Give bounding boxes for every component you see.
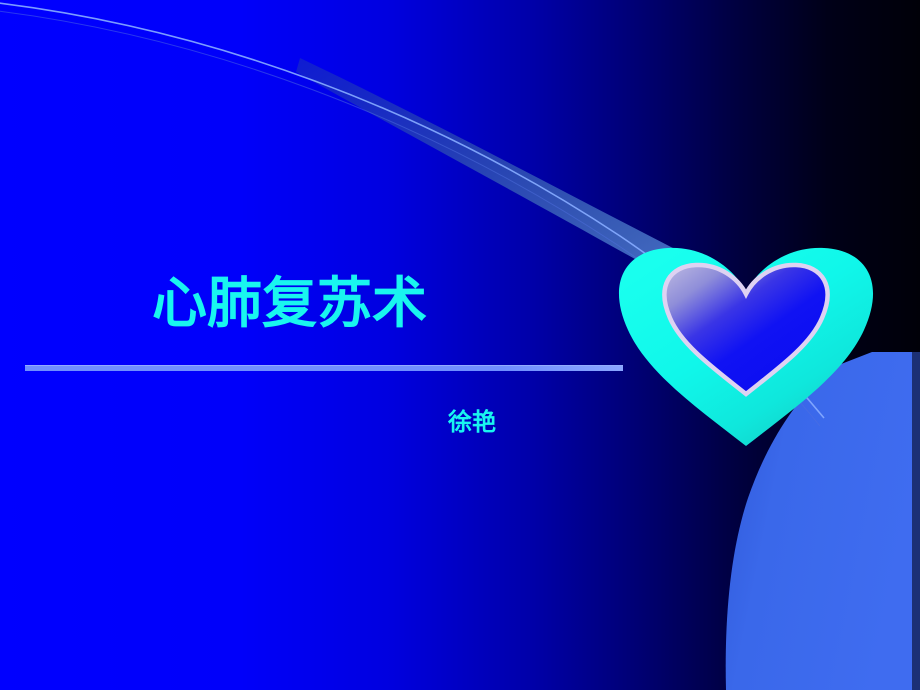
presentation-slide: 心肺复苏术 徐艳 <box>0 0 920 690</box>
page-title: 心肺复苏术 <box>152 272 427 334</box>
title-divider <box>25 365 623 371</box>
presenter-name: 徐艳 <box>448 408 496 436</box>
right-edge-shadow <box>912 350 920 690</box>
title-text-block: 心肺复苏术 徐艳 <box>0 0 660 690</box>
